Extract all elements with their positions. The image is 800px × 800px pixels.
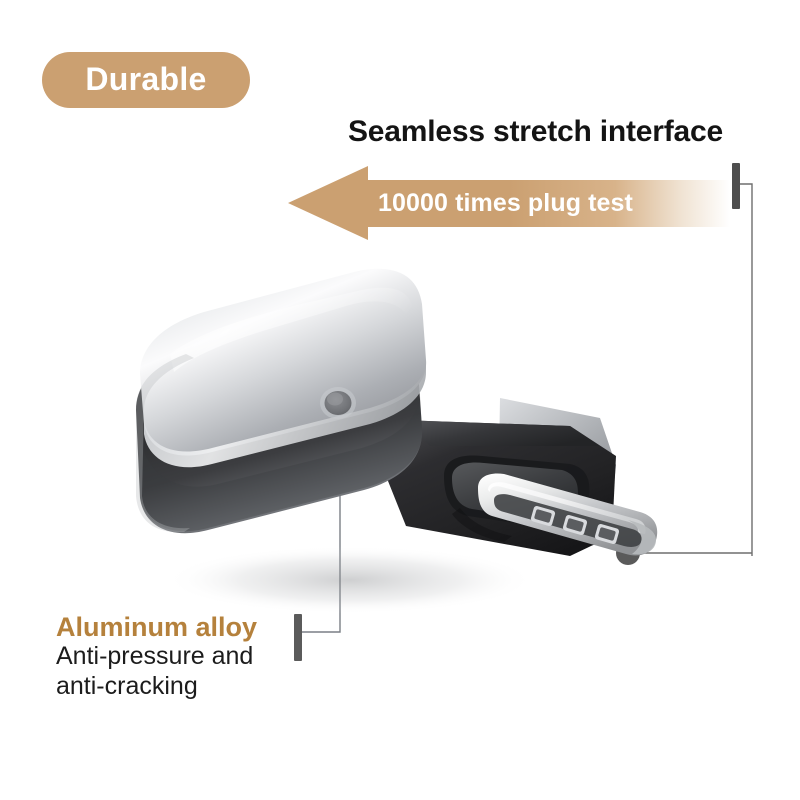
usb-c-adapter-graphic [100, 250, 700, 650]
durable-badge-label: Durable [85, 63, 206, 97]
adapter-drop-shadow [165, 546, 535, 614]
product-feature-canvas: Durable Seamless stretch interface 10000… [0, 0, 800, 800]
headline-seamless-stretch-interface: Seamless stretch interface [348, 115, 723, 149]
callout-marker-interface [732, 163, 740, 209]
callout-leader-line-interface [736, 160, 760, 560]
plug-test-arrow-banner: 10000 times plug test [286, 164, 730, 242]
arrow-banner-label: 10000 times plug test [378, 164, 633, 242]
feature-description-line-2: anti-cracking [56, 672, 296, 702]
adapter-housing-port-hole [320, 387, 356, 419]
usb-c-adapter-illustration [100, 250, 700, 650]
durable-badge: Durable [42, 52, 250, 108]
